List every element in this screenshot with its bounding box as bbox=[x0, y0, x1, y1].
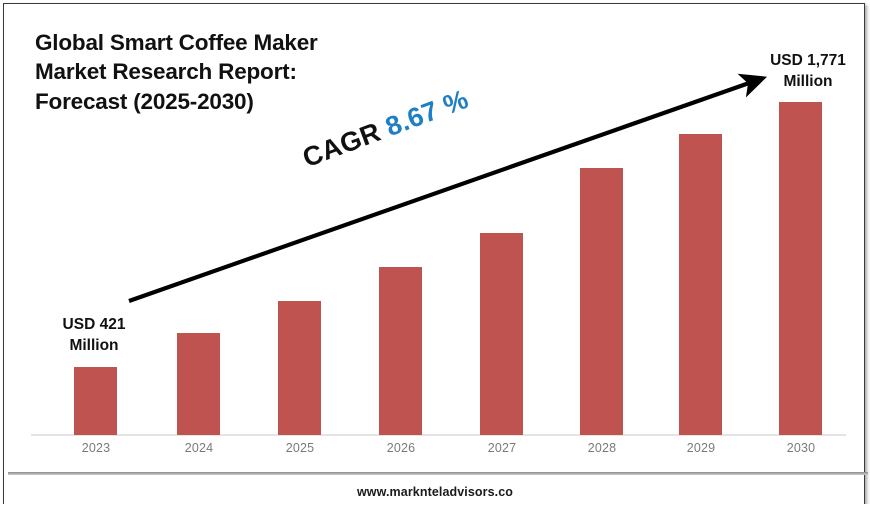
footer-url-overflow: m bbox=[0, 504, 870, 523]
chart-page: Global Smart Coffee Maker Market Researc… bbox=[0, 0, 870, 523]
footer-url[interactable]: www.marknteladvisors.co bbox=[4, 485, 866, 499]
x-tick-2028: 2028 bbox=[566, 441, 638, 455]
bar-2029[interactable] bbox=[679, 134, 722, 435]
chart-frame: Global Smart Coffee Maker Market Researc… bbox=[3, 3, 865, 505]
bar-2027[interactable] bbox=[480, 233, 523, 435]
x-tick-2024: 2024 bbox=[163, 441, 235, 455]
x-tick-2026: 2026 bbox=[365, 441, 437, 455]
bar-2025[interactable] bbox=[278, 301, 321, 435]
start-value-label: USD 421 Million bbox=[28, 315, 160, 356]
bar-2023[interactable] bbox=[74, 367, 117, 435]
footer-url-tail: m bbox=[0, 504, 870, 507]
plot-area: 2023 2024 2025 2026 2027 2028 2029 2030 bbox=[4, 4, 866, 474]
footer-divider bbox=[8, 472, 868, 475]
bar-2024[interactable] bbox=[177, 333, 220, 435]
x-tick-2023: 2023 bbox=[60, 441, 132, 455]
x-tick-2025: 2025 bbox=[264, 441, 336, 455]
end-value-label: USD 1,771 Million bbox=[744, 51, 870, 92]
bar-2026[interactable] bbox=[379, 267, 422, 435]
bars-layer bbox=[4, 4, 866, 435]
x-tick-2030: 2030 bbox=[765, 441, 837, 455]
x-tick-2029: 2029 bbox=[665, 441, 737, 455]
x-tick-2027: 2027 bbox=[466, 441, 538, 455]
bar-2030[interactable] bbox=[779, 102, 822, 435]
x-tick-labels: 2023 2024 2025 2026 2027 2028 2029 2030 bbox=[4, 441, 866, 463]
bar-2028[interactable] bbox=[580, 168, 623, 435]
